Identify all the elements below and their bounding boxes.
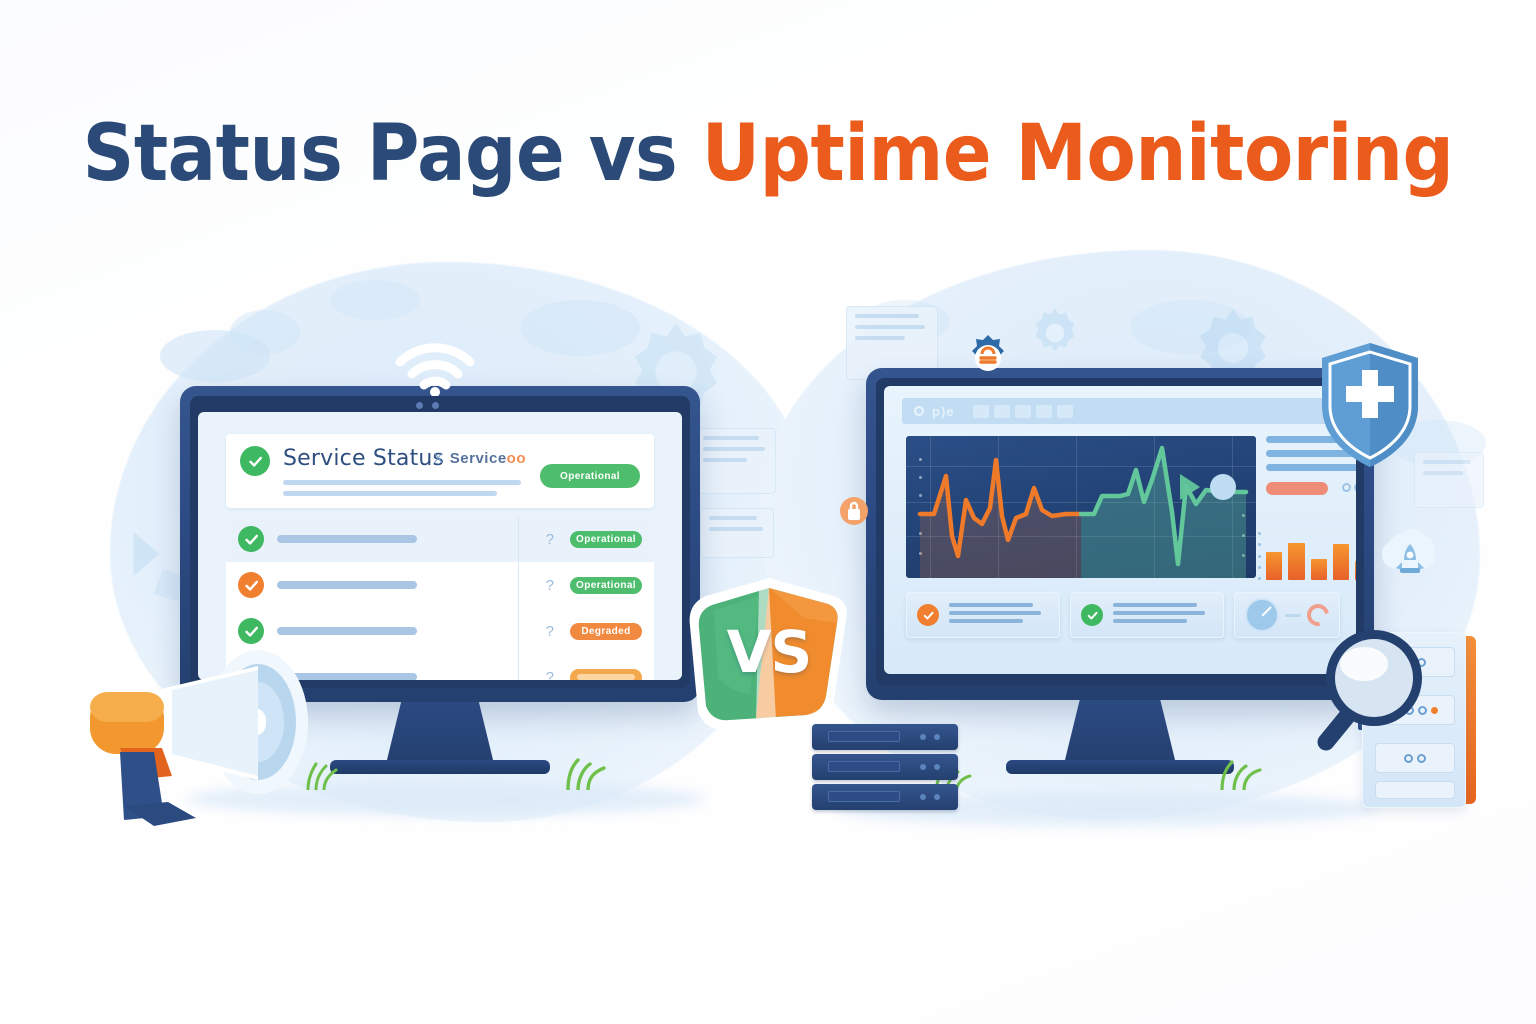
bar-item [1311,559,1327,580]
row-status-pill[interactable]: Operational [570,531,642,548]
status-card[interactable] [906,592,1060,638]
shield-cross-icon [1318,340,1422,470]
ring-icon [1342,483,1351,492]
vs-label: VS [684,574,854,734]
wifi-icon [390,336,480,396]
grass-decoration [1216,758,1264,790]
monitor-stand-neck [1064,700,1176,764]
check-circle-icon [917,604,939,626]
status-card[interactable] [1070,592,1224,638]
gear-icon [1022,300,1088,366]
monitor-stand-neck [386,702,494,764]
magnifier-icon [1286,616,1426,766]
webcam-dot [416,402,423,409]
address-bar[interactable]: p)e [902,398,1338,424]
table-row[interactable]: ? Operational [226,562,654,608]
status-dot-marker [1210,474,1236,500]
play-triangle-marker [1180,474,1200,500]
vs-badge: VS [684,574,854,734]
tab-item[interactable] [994,405,1010,418]
gear-icon [962,332,1014,384]
row-meta: ? [546,669,554,681]
bar-item [1288,543,1304,580]
brand-x-mark: X [433,450,444,467]
tab-item[interactable] [1036,405,1052,418]
tab-strip[interactable] [973,405,1073,418]
row-meta: ? [546,623,554,640]
tab-item[interactable] [1015,405,1031,418]
row-status-pill[interactable]: Degraded [570,623,642,640]
tab-item[interactable] [973,405,989,418]
document-icon [700,508,774,558]
uptime-line-chart [906,436,1256,578]
cloud-icon [330,280,420,320]
illustration-canvas: Status Page vs Uptime Monitoring [0,0,1536,1024]
table-row[interactable]: ? Operational [226,516,654,562]
bar-item [1266,552,1282,580]
lock-icon [840,494,868,528]
side-ring-icons [1339,479,1356,497]
row-meta: ? [546,577,554,594]
url-text: p)e [932,404,955,419]
bar-item [1355,561,1356,580]
page-title: Status Page vs Uptime Monitoring [0,112,1536,196]
grass-decoration [560,756,614,790]
rocket-cloud-icon [1372,528,1448,600]
document-icon [694,428,776,494]
monitor-stand-base [330,760,550,774]
check-circle-icon [238,572,264,598]
server-stack-icon [812,724,962,812]
brand-logo: XServiceoo [433,450,526,467]
document-icon [1414,452,1484,508]
ring-icon [1354,483,1356,492]
title-part-navy: Status Page vs [83,109,678,199]
cloud-icon [230,310,300,354]
row-progress-pill[interactable] [570,669,642,681]
check-circle-icon [1081,604,1103,626]
gauge-icon [1245,598,1279,632]
tab-item[interactable] [1057,405,1073,418]
chart-series-paths [906,436,1256,578]
dashboard-status-cards [906,592,1340,638]
monitor-stand-base [1006,760,1234,774]
webcam-dot [432,402,439,409]
globe-icon [914,406,924,416]
check-circle-icon [240,446,270,476]
title-part-orange: Uptime Monitoring [702,109,1454,199]
header-placeholder-lines [283,480,521,496]
row-status-pill[interactable]: Operational [570,577,642,594]
uptime-bar-chart [1266,532,1356,580]
megaphone-icon [62,630,342,830]
brand-name: Service [450,450,507,467]
brand-suffix: oo [507,450,526,467]
bar-item [1333,544,1349,580]
bar-chart-axis [1258,532,1261,580]
service-status-header: Service Status XServiceoo Operational [226,434,654,508]
check-circle-icon [238,526,264,552]
header-status-pill[interactable]: Operational [540,464,640,488]
row-meta: ? [546,531,554,548]
side-alert-pill [1266,482,1328,495]
